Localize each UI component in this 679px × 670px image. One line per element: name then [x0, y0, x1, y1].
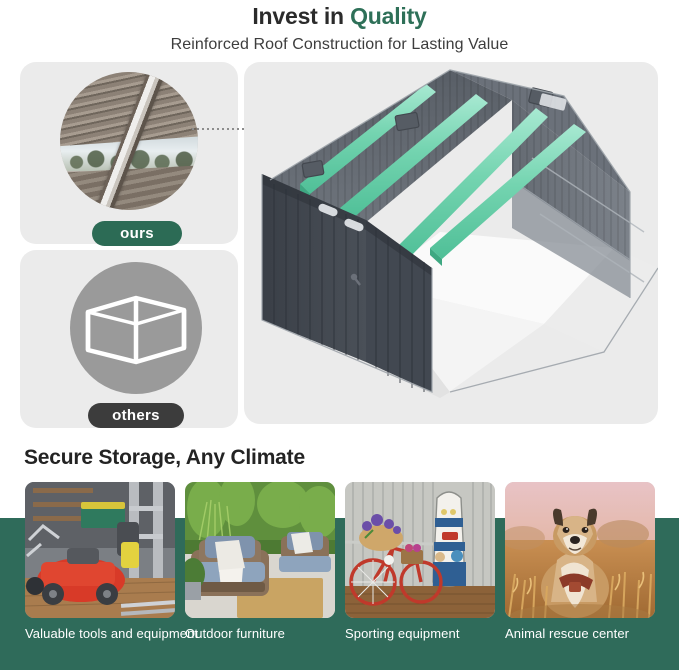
- card-valuable-tools[interactable]: Valuable tools and equipment: [25, 482, 175, 642]
- card-animal-rescue[interactable]: Animal rescue center: [505, 482, 655, 642]
- card-image-animal: [505, 482, 655, 618]
- roof-closeup-image: [60, 72, 198, 210]
- header: Invest in Quality Reinforced Roof Constr…: [0, 0, 679, 55]
- card-sporting-equipment[interactable]: Sporting equipment: [345, 482, 495, 642]
- card-label-animal: Animal rescue center: [505, 626, 655, 642]
- shed-3d-illustration: [244, 62, 658, 424]
- wireframe-box-icon: [84, 290, 188, 368]
- page-subtitle: Reinforced Roof Construction for Lasting…: [0, 29, 679, 55]
- others-badge: others: [88, 403, 184, 428]
- ours-photo: [60, 72, 198, 210]
- use-case-cards: Valuable tools and equipment: [0, 482, 679, 670]
- card-label-tools: Valuable tools and equipment: [25, 626, 175, 642]
- section-title: Secure Storage, Any Climate: [24, 446, 305, 470]
- tools-photo: [25, 482, 175, 618]
- page-title-plain: Invest in: [252, 3, 350, 29]
- card-image-sporting: [345, 482, 495, 618]
- main-illustration-panel: [244, 62, 658, 424]
- card-outdoor-furniture[interactable]: Outdoor furniture: [185, 482, 335, 642]
- ours-badge: ours: [92, 221, 182, 246]
- card-image-tools: [25, 482, 175, 618]
- sporting-photo: [345, 482, 495, 618]
- card-label-sporting: Sporting equipment: [345, 626, 495, 642]
- page-title-accent: Quality: [350, 3, 427, 29]
- card-label-furniture: Outdoor furniture: [185, 626, 335, 642]
- card-image-furniture: [185, 482, 335, 618]
- dog-photo: [505, 482, 655, 618]
- furniture-photo: [185, 482, 335, 618]
- others-photo: [70, 262, 202, 394]
- page-title: Invest in Quality: [0, 0, 679, 29]
- roof-slats-lower: [60, 164, 198, 210]
